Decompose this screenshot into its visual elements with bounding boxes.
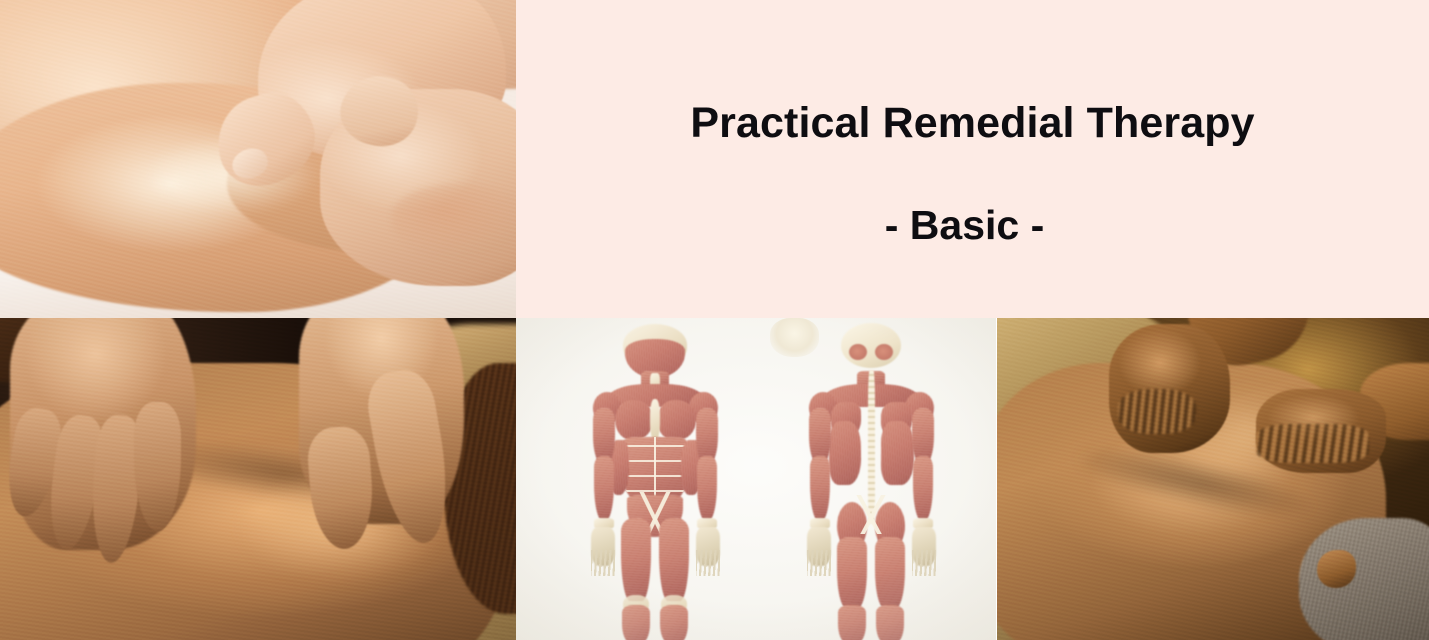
photo-grain (997, 318, 1429, 640)
page-title: Practical Remedial Therapy (516, 99, 1429, 148)
calf-massage-photo (0, 0, 516, 318)
photo-grain (0, 0, 516, 318)
back-massage-photo-dark (0, 318, 516, 640)
diagram-vignette (516, 318, 996, 640)
photo-grain (0, 318, 516, 640)
page-subtitle: - Basic - (516, 202, 1429, 249)
muscular-system-diagram (516, 318, 996, 640)
slide-canvas: Practical Remedial Therapy - Basic - (0, 0, 1429, 640)
back-massage-photo-warm (997, 318, 1429, 640)
title-panel: Practical Remedial Therapy - Basic - (516, 0, 1429, 318)
